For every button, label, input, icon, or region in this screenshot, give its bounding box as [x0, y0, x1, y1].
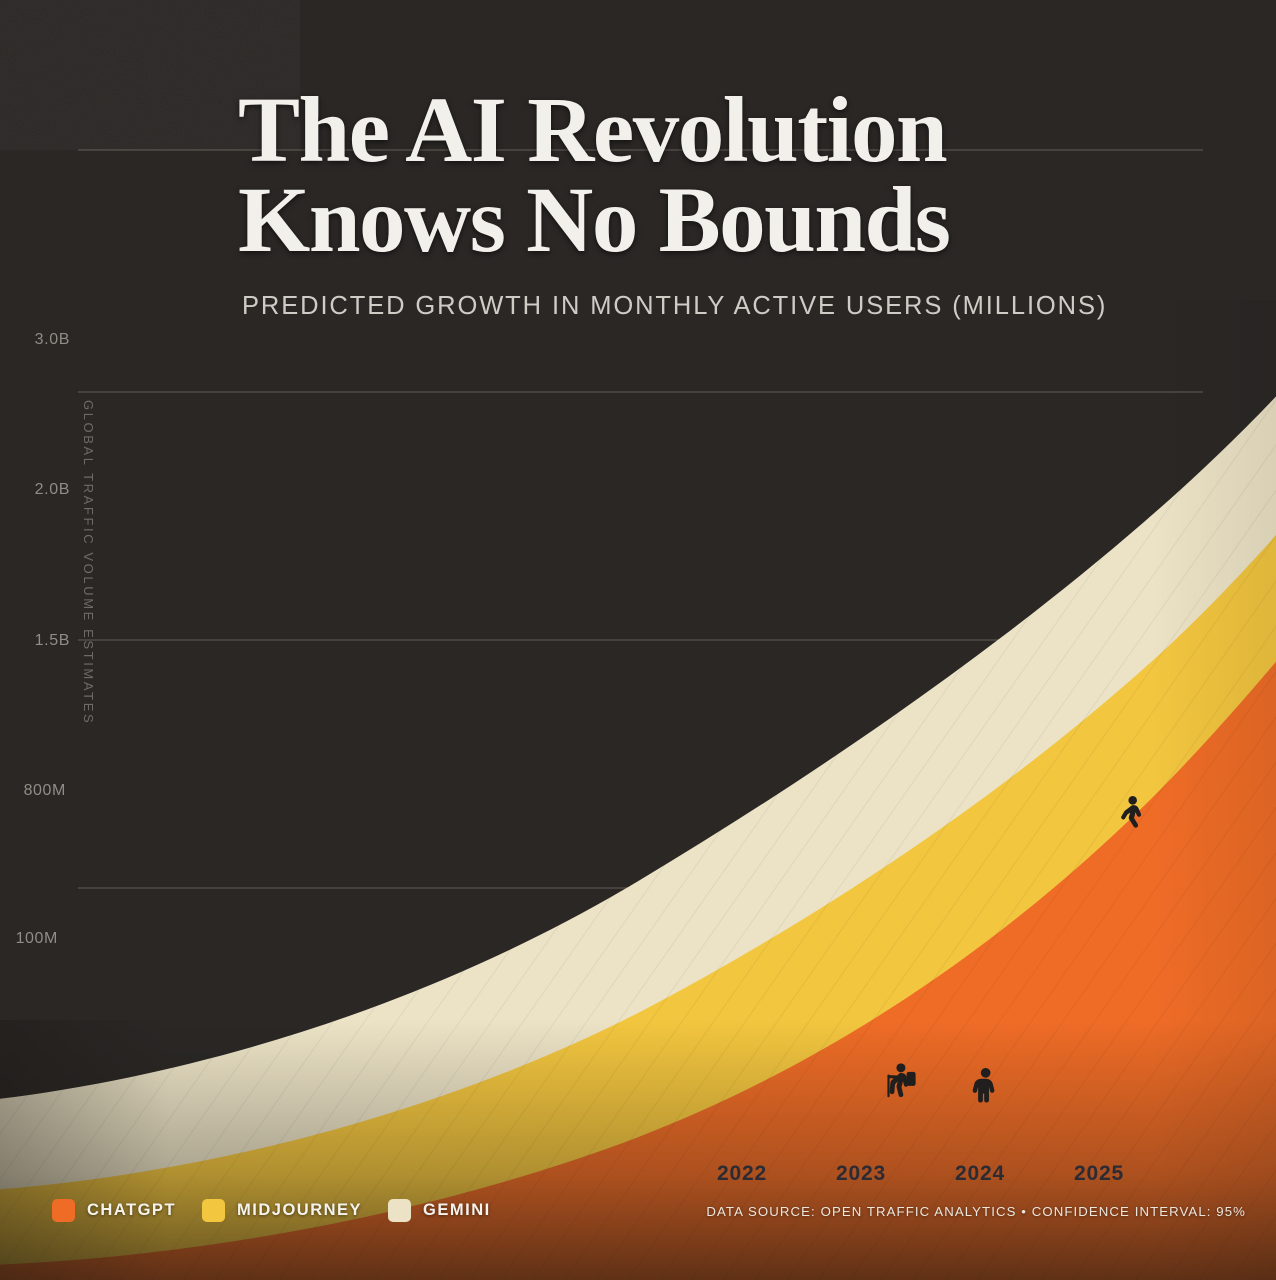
- legend-item-midjourney[interactable]: MIDJOURNEY: [202, 1199, 362, 1222]
- legend-label-midjourney: MIDJOURNEY: [237, 1201, 362, 1220]
- legend-label-chatgpt: CHATGPT: [87, 1201, 176, 1220]
- legend-swatch-gemini: [388, 1199, 411, 1222]
- left-vignette: [0, 1020, 170, 1280]
- right-vignette: [1150, 300, 1276, 1280]
- header-block: The AI Revolution Knows No Bounds PREDIC…: [238, 86, 1068, 321]
- title-line-1: The AI Revolution: [238, 79, 946, 182]
- x-tick-label-2025: 2025: [1074, 1162, 1124, 1186]
- legend-item-gemini[interactable]: GEMINI: [388, 1199, 491, 1222]
- chart-legend: CHATGPT MIDJOURNEY GEMINI: [52, 1199, 491, 1222]
- y-tick-label-100m: 100M: [0, 930, 58, 948]
- page-title: The AI Revolution Knows No Bounds: [238, 86, 1068, 266]
- y-axis-caption: GLOBAL TRAFFIC VOLUME ESTIMATES: [81, 400, 96, 725]
- page-subtitle: PREDICTED GROWTH IN MONTHLY ACTIVE USERS…: [242, 292, 1068, 321]
- legend-swatch-chatgpt: [52, 1199, 75, 1222]
- x-tick-label-2023: 2023: [836, 1162, 886, 1186]
- title-line-2: Knows No Bounds: [238, 169, 949, 272]
- legend-item-chatgpt[interactable]: CHATGPT: [52, 1199, 176, 1222]
- y-tick-label-3-0b: 3.0B: [0, 331, 70, 349]
- y-tick-label-1-5b: 1.5B: [0, 632, 70, 650]
- infographic-canvas: The AI Revolution Knows No Bounds PREDIC…: [0, 0, 1276, 1280]
- x-tick-label-2024: 2024: [955, 1162, 1005, 1186]
- data-source-note: DATA SOURCE: OPEN TRAFFIC ANALYTICS • CO…: [706, 1204, 1246, 1219]
- y-tick-label-800m: 800M: [0, 782, 66, 800]
- bottom-vignette: [0, 1020, 1276, 1280]
- y-tick-label-2-0b: 2.0B: [0, 481, 70, 499]
- x-tick-label-2022: 2022: [717, 1162, 767, 1186]
- legend-swatch-midjourney: [202, 1199, 225, 1222]
- legend-label-gemini: GEMINI: [423, 1201, 491, 1220]
